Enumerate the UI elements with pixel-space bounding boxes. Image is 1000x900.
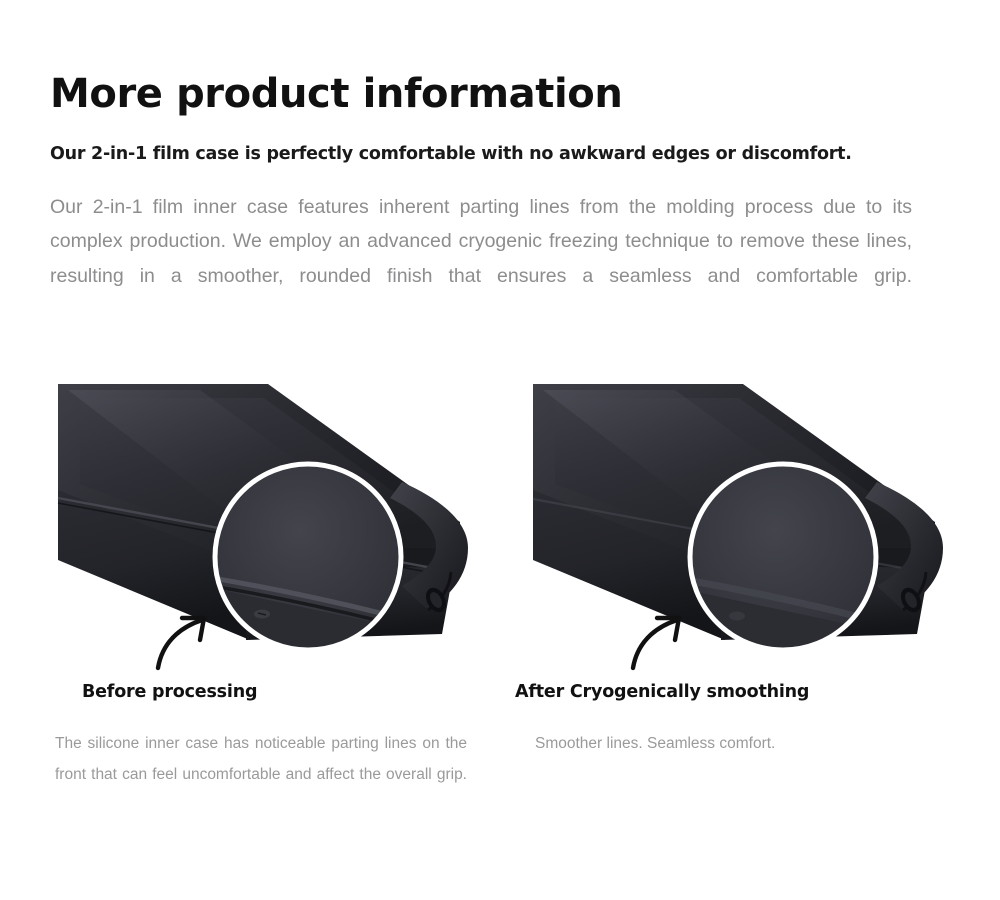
figure-before: Before processing The silicone inner cas… (0, 372, 500, 821)
figure-caption-before: Before processing (82, 672, 500, 702)
page-title: More product information (50, 72, 962, 117)
figures-row: Before processing The silicone inner cas… (0, 372, 1000, 821)
figure-description-after: Smoother lines. Seamless comfort. (535, 702, 955, 759)
product-photo-before (50, 372, 470, 672)
case-illustration-before (50, 372, 470, 672)
product-photo-after (525, 372, 945, 672)
intro-paragraph: Our 2-in-1 film inner case features inhe… (50, 166, 912, 329)
product-info-page: More product information Our 2-in-1 film… (0, 0, 1000, 900)
header-block: More product information Our 2-in-1 film… (50, 72, 962, 328)
curved-arrow-up-right-icon (633, 618, 679, 668)
curved-arrow-up-right-icon (158, 618, 204, 668)
case-illustration-after (525, 372, 945, 672)
page-subtitle: Our 2-in-1 film case is perfectly comfor… (50, 117, 962, 166)
figure-after: After Cryogenically smoothing Smoother l… (500, 372, 1000, 821)
figure-description-before: The silicone inner case has noticeable p… (55, 702, 467, 821)
figure-caption-after: After Cryogenically smoothing (515, 672, 1000, 702)
